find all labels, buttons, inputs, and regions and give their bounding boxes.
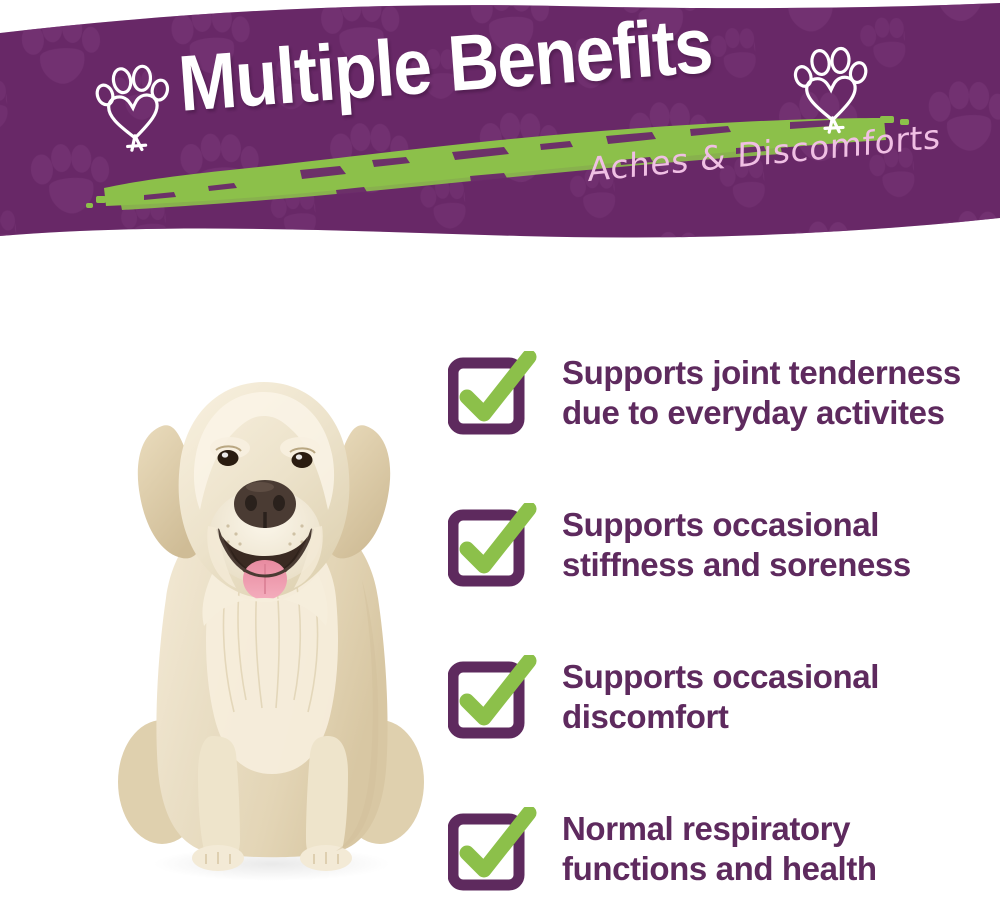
checkbox-checked-icon [448,807,538,893]
checkbox-checked-icon [448,503,538,589]
benefit-line-2: functions and health [562,849,992,889]
benefits-list: Supports joint tenderness due to everyda… [448,345,993,921]
header-banner: Multiple Benefits Aches & Discomforts [0,0,1000,250]
benefit-text: Normal respiratory functions and health [562,809,992,889]
benefit-text: Supports joint tenderness due to everyda… [562,353,992,433]
benefit-item: Supports joint tenderness due to everyda… [448,345,993,497]
benefit-line-2: stiffness and soreness [562,545,992,585]
benefit-line-1: Supports occasional [562,505,992,545]
benefit-line-1: Supports occasional [562,657,992,697]
dog-nose [234,480,296,528]
benefit-line-2: discomfort [562,697,992,737]
benefit-item: Supports occasional stiffness and sorene… [448,497,993,649]
checkbox-checked-icon [448,655,538,741]
benefit-line-1: Supports joint tenderness [562,353,992,393]
benefit-line-2: due to everyday activites [562,393,992,433]
benefit-line-1: Normal respiratory [562,809,992,849]
benefit-item: Supports occasional discomfort [448,649,993,801]
benefit-text: Supports occasional discomfort [562,657,992,737]
benefit-item: Normal respiratory functions and health [448,801,993,921]
dog-photo [100,330,440,890]
benefit-text: Supports occasional stiffness and sorene… [562,505,992,585]
checkbox-checked-icon [448,351,538,437]
paw-heart-icon [92,59,174,156]
